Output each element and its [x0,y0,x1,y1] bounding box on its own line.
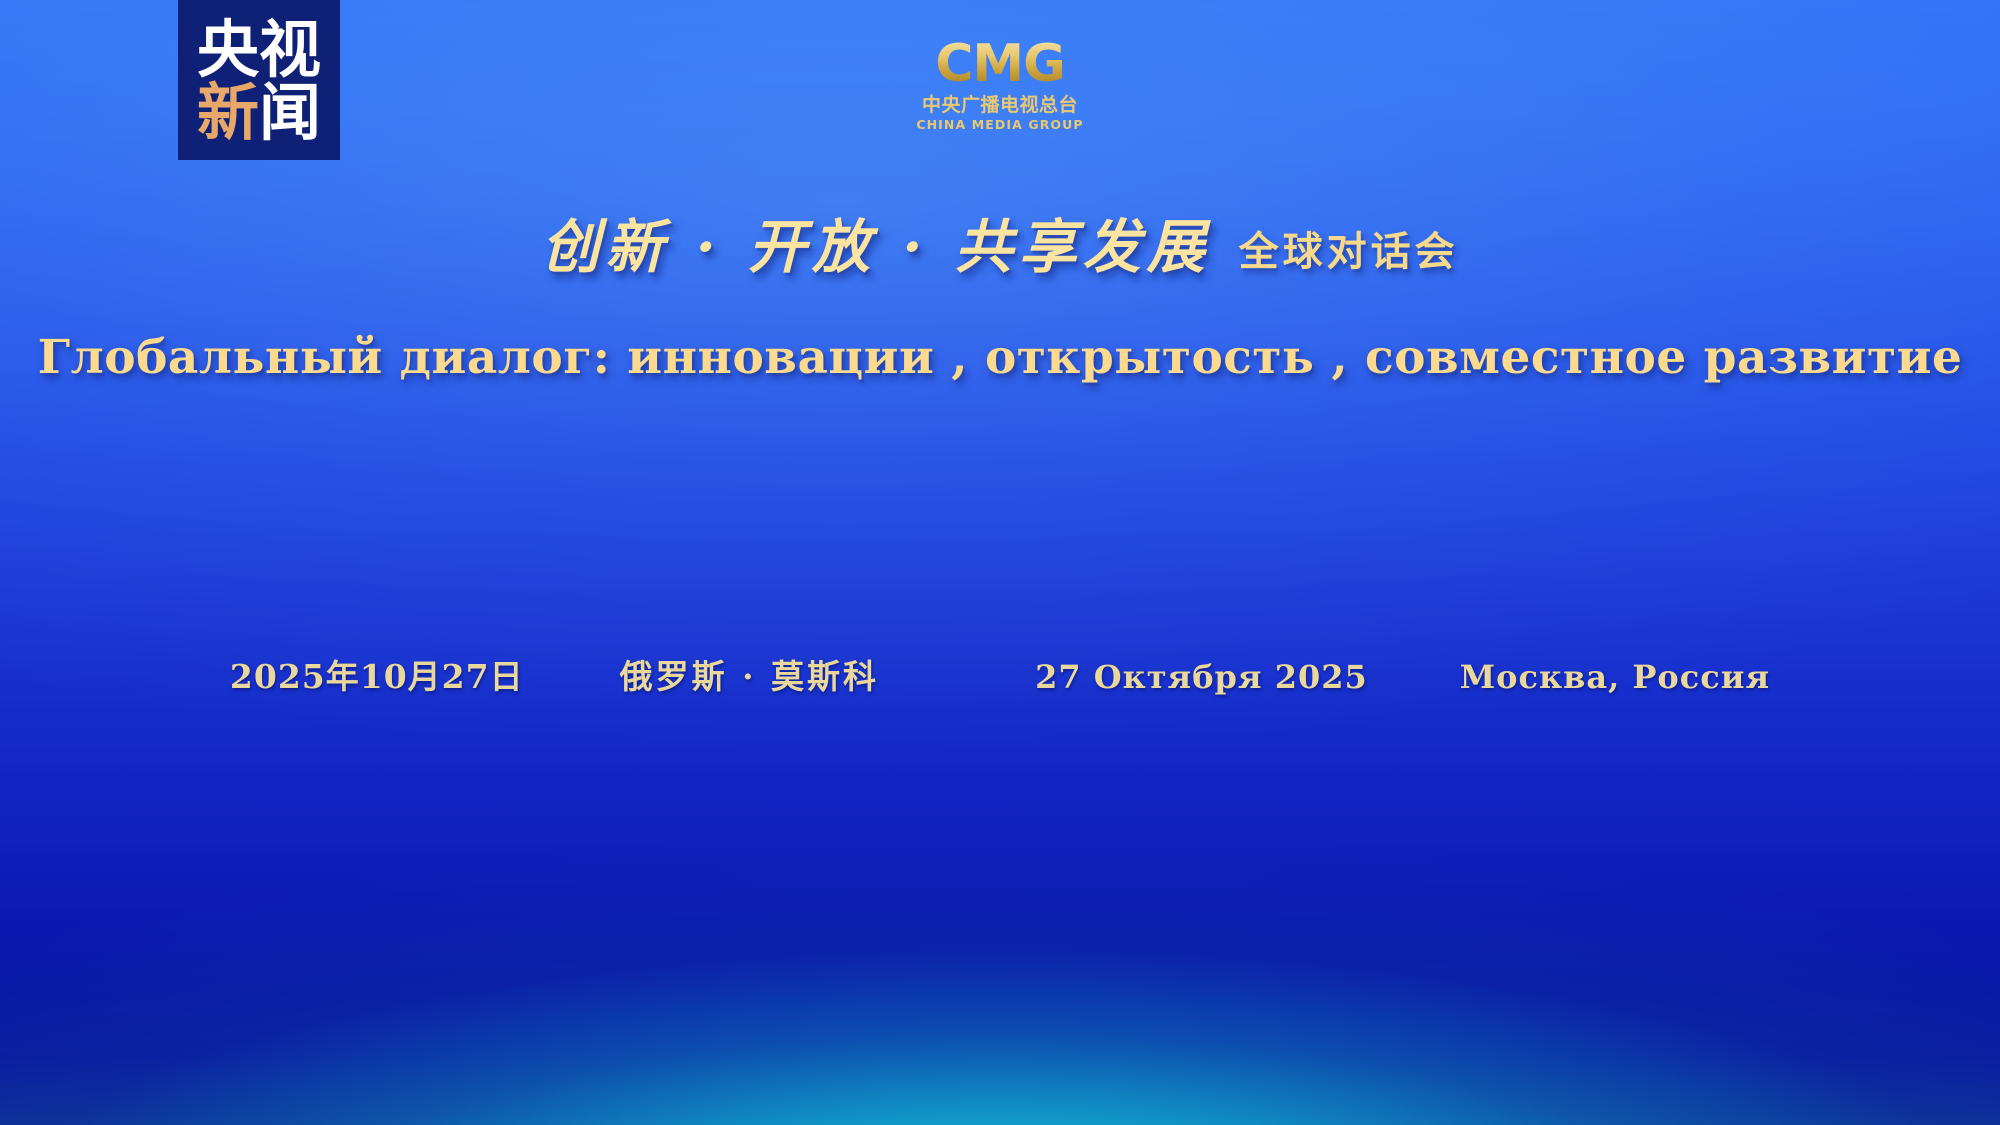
cmg-logo-mark-wrap: CMG [915,36,1085,92]
cctv-logo-text-xin: 新 [197,83,259,144]
event-location-russian: Москва, Россия [1460,661,1770,693]
cmg-logo: CMG 中央广播电视总台 CHINA MEDIA GROUP [915,36,1085,133]
cctv-logo-line-2: 新 闻 [197,83,321,144]
cmg-logo-mark: CMG [935,36,1065,92]
event-date-russian: 27 Октября 2025 [1035,661,1368,693]
event-location-chinese: 俄罗斯 · 莫斯科 [620,660,879,693]
cctv-logo-text-yangshi: 央视 [197,20,321,81]
event-date-chinese: 2025年10月27日 [230,660,524,693]
chinese-title-row: 创新 · 开放 · 共享发展 全球对话会 [0,218,2000,276]
bottom-cyan-glow [0,835,2000,1125]
cctv-logo-line-1: 央视 [197,20,321,81]
cctv-news-logo: 央视 新 闻 [178,0,340,160]
event-info-row: 2025年10月27日 俄罗斯 · 莫斯科 27 Октября 2025 Мо… [0,660,2000,693]
cmg-logo-english-name: CHINA MEDIA GROUP [915,117,1085,133]
cctv-logo-text-wen: 闻 [259,83,321,144]
cmg-logo-chinese-name: 中央广播电视总台 [915,93,1085,117]
event-backdrop-slide: 央视 新 闻 CMG 中央广播电视总台 CHINA MEDIA GROUP 创新… [0,0,2000,1125]
page-title-chinese-suffix: 全球对话会 [1239,232,1459,276]
page-title-chinese: 创新 · 开放 · 共享发展 [541,218,1210,276]
page-subtitle-russian: Глобальный диалог: инновации , открытост… [0,330,2000,386]
